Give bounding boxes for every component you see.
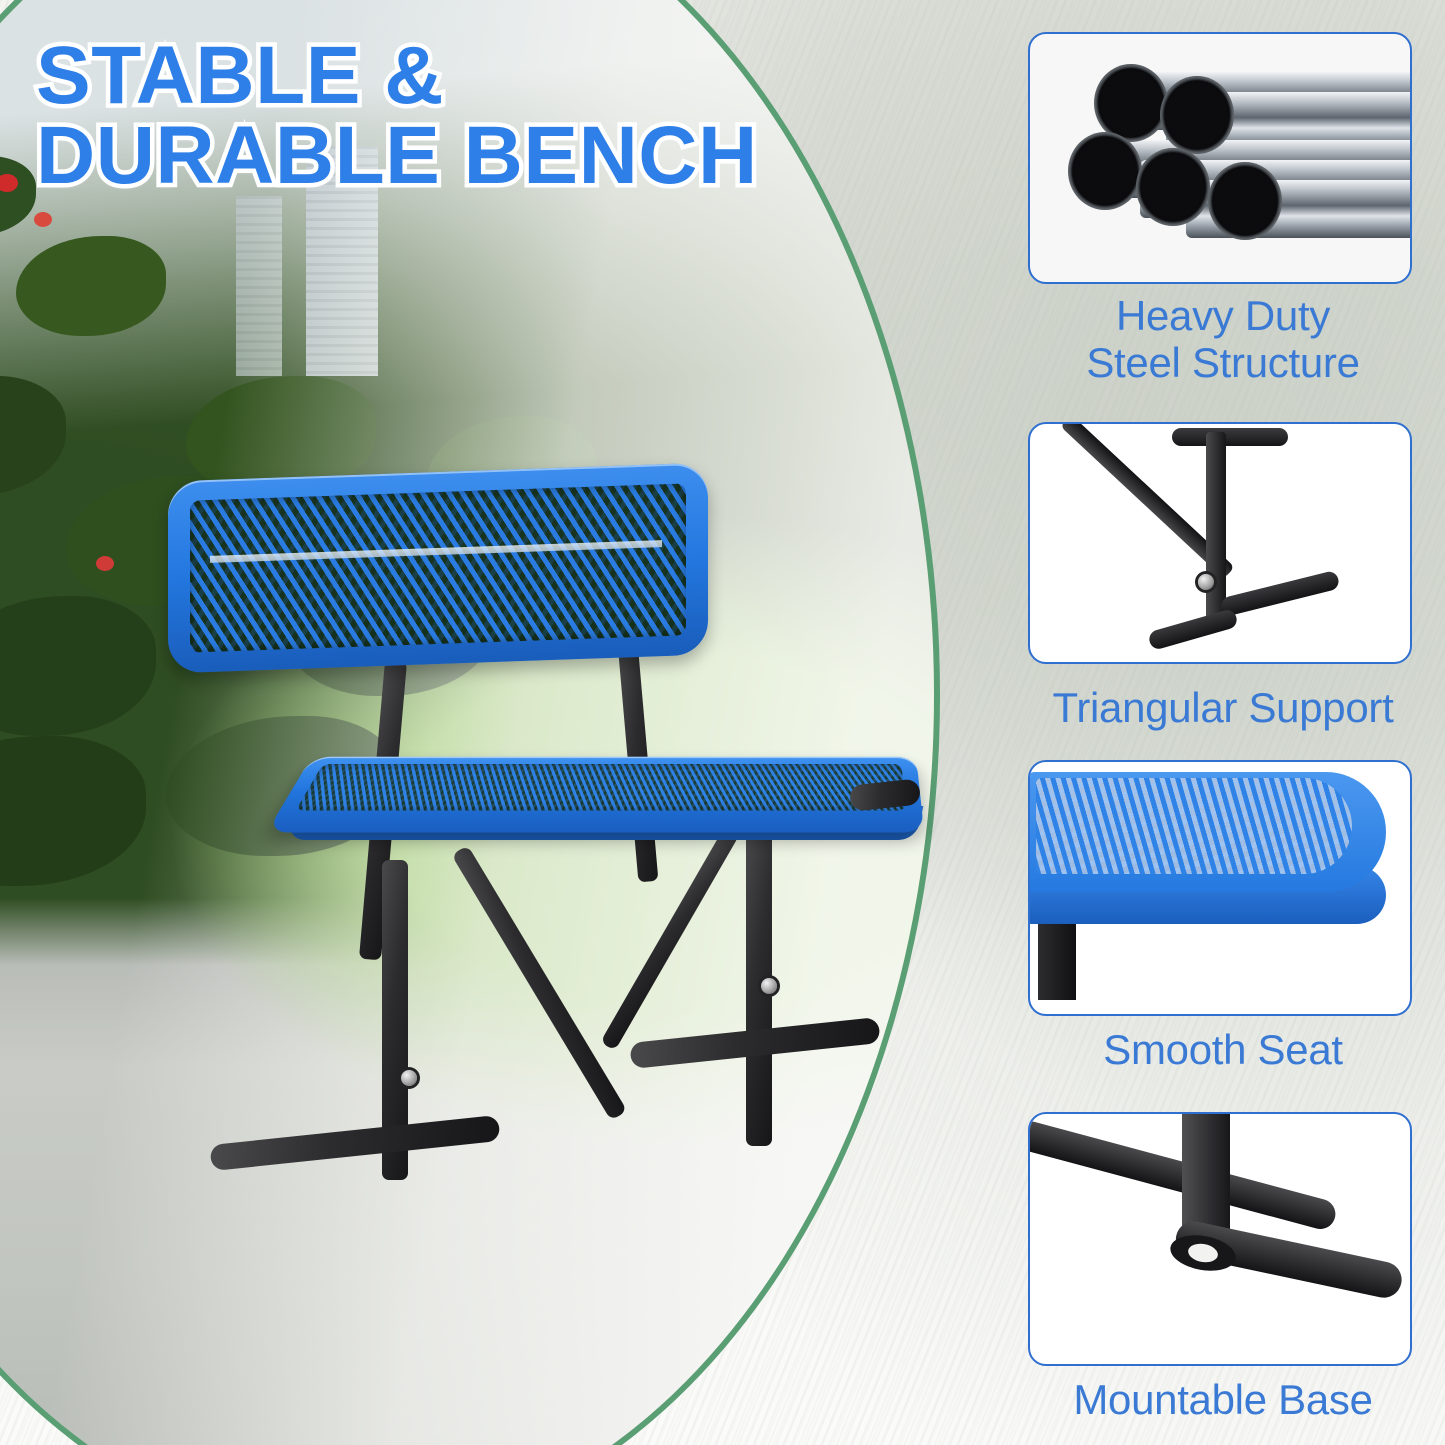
product-infographic: STABLE & DURABLE BENCH — [0, 0, 1445, 1445]
feature-caption-steel-structure: Heavy Duty Steel Structure — [1028, 292, 1418, 386]
bench-product-image — [150, 430, 970, 1260]
bench-foot-front — [209, 1115, 500, 1171]
bench-backrest — [168, 463, 708, 674]
feature-panel-triangular-support — [1028, 422, 1412, 664]
caption-line-1: Mountable Base — [1028, 1376, 1418, 1423]
caption-line-1: Smooth Seat — [1028, 1026, 1418, 1073]
bench-bolt-right — [761, 978, 777, 994]
feature-panel-mountable-base — [1028, 1112, 1412, 1366]
bench-diagonal-brace-right — [600, 826, 740, 1051]
headline-line-1: STABLE & — [36, 30, 444, 121]
feature-caption-smooth-seat: Smooth Seat — [1028, 1026, 1418, 1073]
caption-line-2: Steel Structure — [1028, 339, 1418, 386]
seat-mesh — [296, 764, 906, 811]
caption-line-1: Heavy Duty — [1028, 292, 1418, 339]
feature-caption-triangular-support: Triangular Support — [1028, 684, 1418, 731]
bench-diagonal-brace-left — [451, 845, 627, 1121]
bench-seat — [266, 757, 924, 833]
feature-panel-smooth-seat — [1028, 760, 1412, 1016]
support-bolt — [1198, 574, 1214, 590]
backrest-mesh — [190, 483, 686, 652]
mountable-base-icon — [1030, 1114, 1410, 1364]
smooth-seat-icon — [1030, 762, 1410, 1014]
bench-bolt-left — [401, 1070, 417, 1086]
caption-line-1: Triangular Support — [1028, 684, 1418, 731]
feature-rail: Heavy Duty Steel Structure Triangular Su… — [1028, 0, 1418, 1445]
triangular-support-icon — [1030, 424, 1410, 662]
headline-line-2: DURABLE BENCH — [36, 116, 916, 196]
feature-panel-steel-structure — [1028, 32, 1412, 284]
feature-caption-mountable-base: Mountable Base — [1028, 1376, 1418, 1423]
page-title: STABLE & DURABLE BENCH — [36, 36, 916, 197]
steel-tubes-icon — [1030, 34, 1410, 282]
